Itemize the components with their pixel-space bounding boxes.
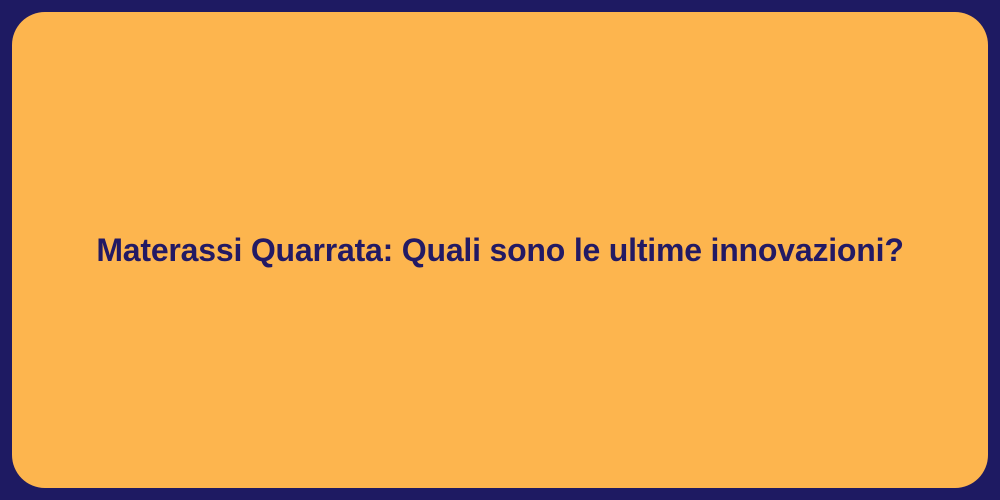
title-card-panel: Materassi Quarrata: Quali sono le ultime… bbox=[12, 12, 988, 488]
title-card-frame: Materassi Quarrata: Quali sono le ultime… bbox=[0, 0, 1000, 500]
page-title: Materassi Quarrata: Quali sono le ultime… bbox=[96, 230, 903, 270]
